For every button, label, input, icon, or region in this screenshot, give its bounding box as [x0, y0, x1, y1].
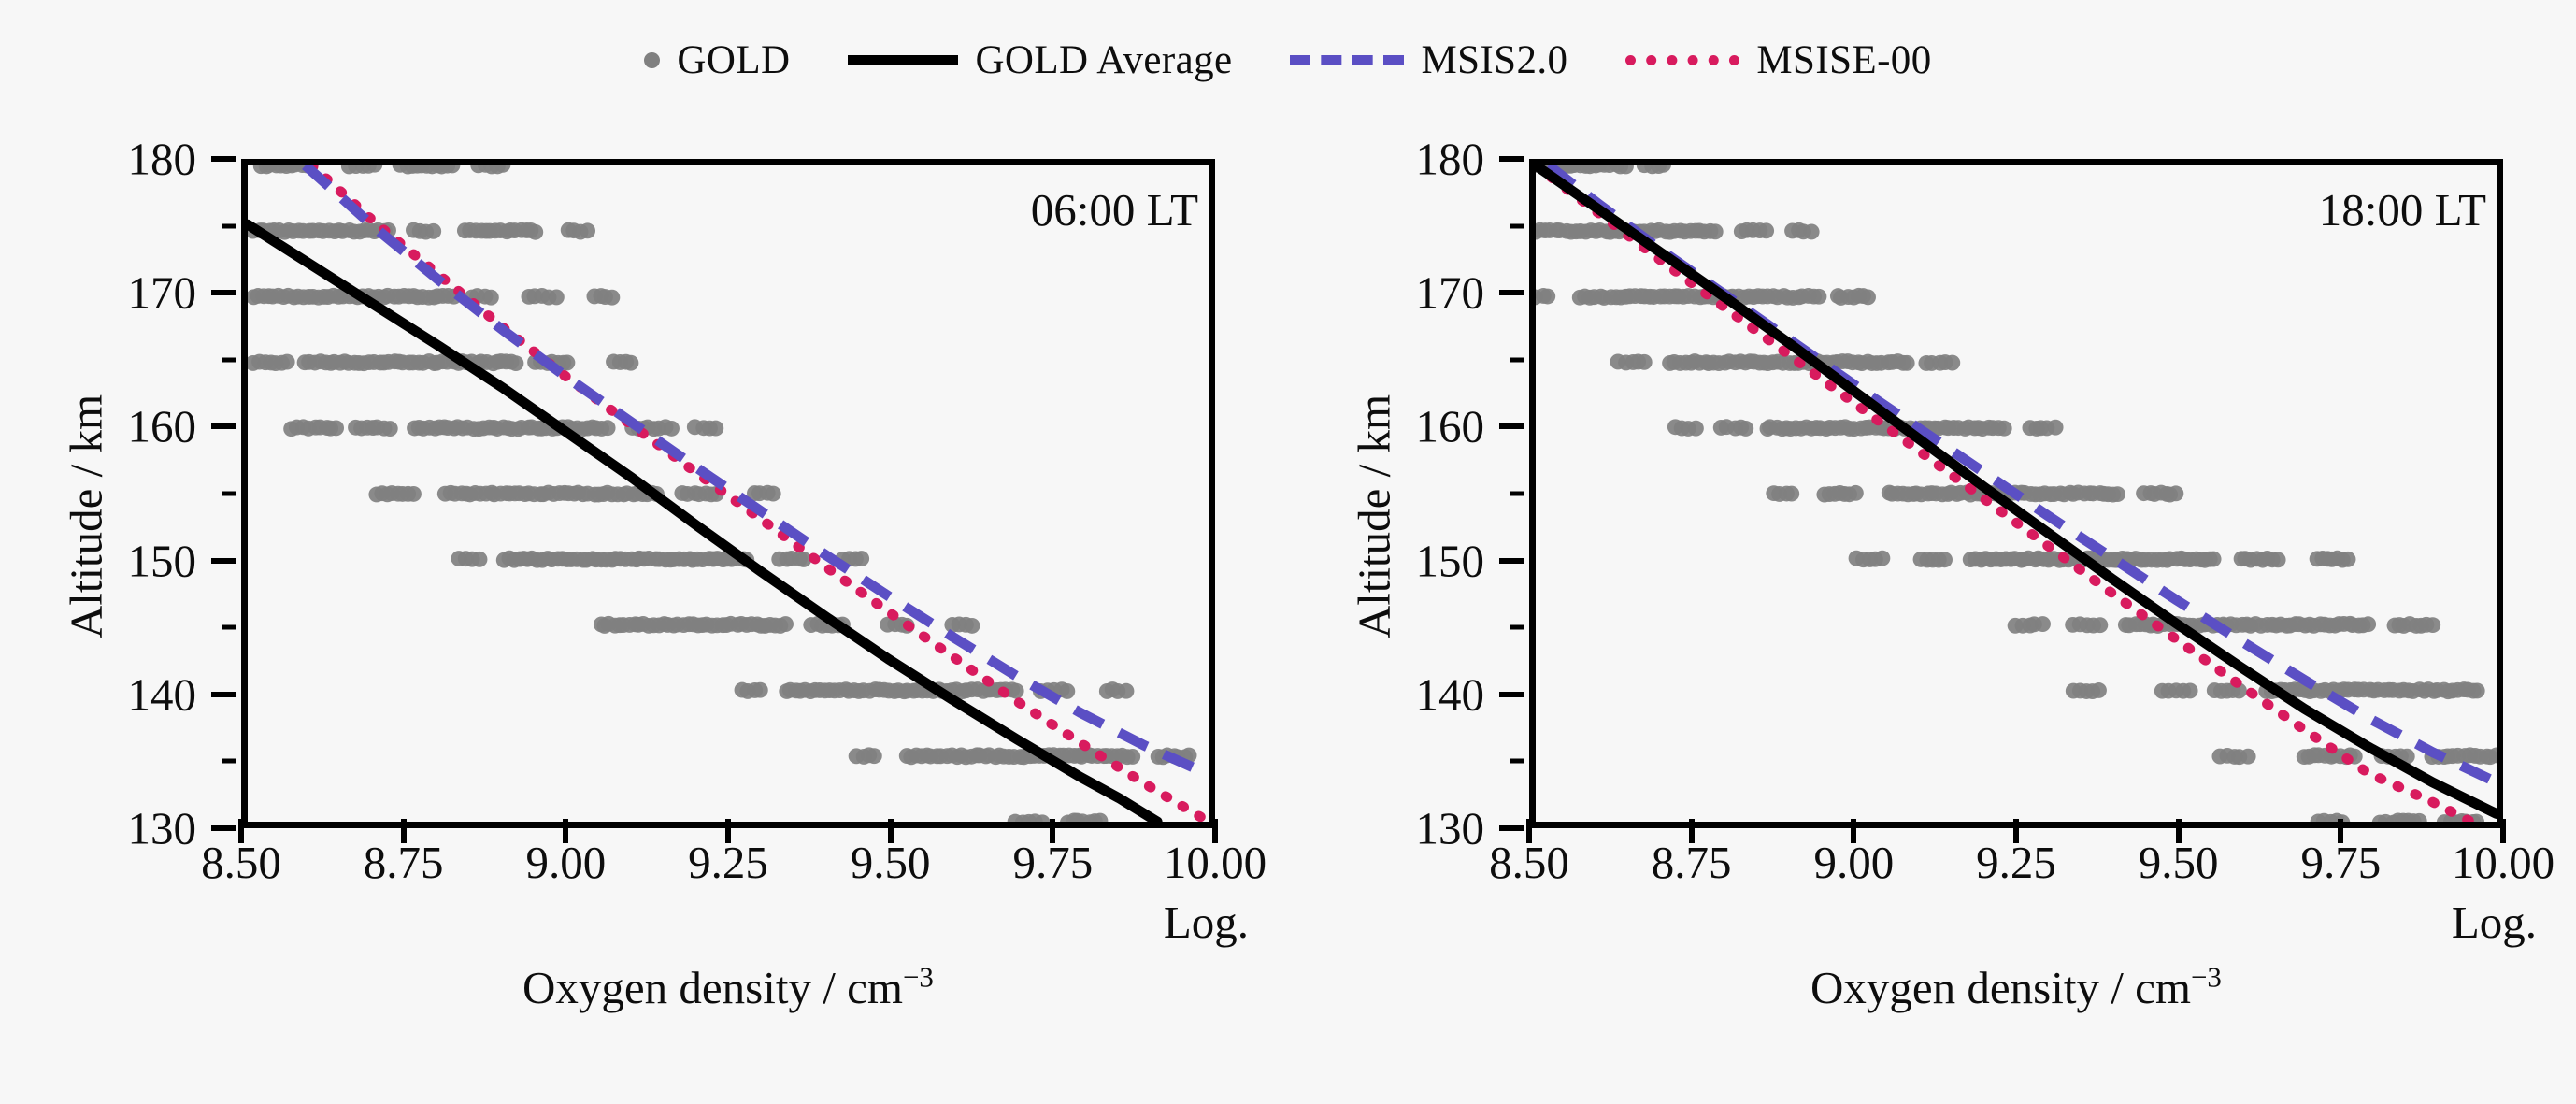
legend-item-msise00: MSISE-00 — [1625, 40, 1931, 80]
x-tick-mark-9.50 — [2176, 819, 2182, 843]
scatter-point — [2206, 552, 2222, 567]
x-tick-mark-10.00 — [1212, 819, 1218, 843]
scatter-point — [2340, 552, 2356, 567]
x-tick-mark-9.75 — [2338, 819, 2343, 843]
scatter-point — [623, 355, 638, 371]
y-tick-mark-150 — [1499, 558, 1524, 564]
y-minor-tick-145 — [1510, 625, 1524, 630]
y-minor-tick-155 — [1510, 492, 1524, 496]
x-tick-mark-9.50 — [888, 819, 894, 843]
scatter-point — [549, 289, 565, 305]
x-tick-mark-8.75 — [1689, 819, 1695, 843]
scatter-point — [766, 486, 781, 502]
legend-item-gold: GOLD — [644, 40, 790, 80]
y-tick-mark-180 — [211, 156, 236, 162]
scatter-point — [2168, 485, 2183, 501]
y-tick-label-180: 180 — [128, 136, 197, 182]
scatter-point — [1996, 421, 2012, 437]
x-axis-title-right: Oxygen density / cm−3 — [1529, 965, 2503, 1011]
y-tick-label-130: 130 — [1416, 806, 1485, 852]
scatter-point — [2048, 420, 2064, 436]
scatter-point — [708, 421, 723, 437]
scatter-point — [1118, 683, 1134, 699]
y-axis-title-left: Altitude / km — [64, 237, 109, 797]
x-tick-label-9.00: 9.00 — [525, 839, 606, 885]
scatter-point — [1810, 289, 1826, 305]
x-axis-ticks-right: 8.508.759.009.259.509.7510.00 — [1529, 834, 2503, 899]
scatter-point — [382, 421, 398, 437]
y-tick-mark-140 — [1499, 692, 1524, 697]
x-tick-label-9.75: 9.75 — [2300, 839, 2381, 885]
x-tick-label-8.75: 8.75 — [1652, 839, 1732, 885]
scatter-point — [1899, 355, 1915, 371]
y-tick-mark-130 — [211, 825, 236, 831]
log-note-left: Log. — [1164, 899, 1249, 945]
scatter-point — [328, 420, 344, 436]
x-tick-mark-8.50 — [238, 819, 244, 843]
y-tick-mark-130 — [1499, 825, 1524, 831]
y-minor-tick-165 — [1510, 357, 1524, 362]
y-minor-tick-135 — [222, 759, 236, 764]
x-tick-mark-9.75 — [1050, 819, 1055, 843]
legend-label-gold-average: GOLD Average — [975, 40, 1232, 80]
x-axis-exponent-left: −3 — [903, 961, 934, 994]
x-tick-mark-9.00 — [1851, 819, 1856, 843]
x-tick-mark-8.50 — [1526, 819, 1532, 843]
y-tick-label-150: 150 — [128, 538, 197, 583]
scatter-point — [1860, 289, 1876, 305]
scatter-point — [527, 224, 543, 240]
scatter-point — [866, 748, 882, 764]
y-tick-label-150: 150 — [1416, 538, 1485, 583]
panel-annotation-right: 18:00 LT — [2319, 187, 2486, 233]
x-tick-label-10.00: 10.00 — [2452, 839, 2555, 885]
y-tick-mark-150 — [211, 558, 236, 564]
y-minor-tick-165 — [222, 357, 236, 362]
y-tick-mark-140 — [211, 692, 236, 697]
x-tick-mark-8.75 — [401, 819, 407, 843]
scatter-point — [1539, 289, 1555, 305]
scatter-point — [2360, 616, 2376, 632]
y-axis-ticks-right: 130140150160170180 — [1288, 159, 1522, 828]
plot-svg-left — [248, 165, 1209, 822]
x-tick-mark-10.00 — [2500, 819, 2506, 843]
y-tick-mark-180 — [1499, 156, 1524, 162]
x-tick-mark-9.00 — [563, 819, 568, 843]
series-line-gold-average — [248, 224, 1157, 822]
purple-dashed-line-icon — [1290, 55, 1404, 65]
x-tick-label-8.50: 8.50 — [201, 839, 281, 885]
scatter-point — [279, 354, 295, 370]
plot-area-right — [1529, 159, 2503, 828]
scatter-point — [1637, 354, 1653, 370]
y-axis-ticks-left: 130140150160170180 — [0, 159, 234, 828]
x-axis-ticks-left: 8.508.759.009.259.509.7510.00 — [241, 834, 1215, 899]
scatter-point — [483, 290, 499, 306]
x-tick-mark-9.25 — [2013, 819, 2019, 843]
scatter-point — [2110, 486, 2125, 502]
y-minor-tick-145 — [222, 625, 236, 630]
legend-item-gold-average: GOLD Average — [848, 40, 1232, 80]
scatter-point — [1804, 224, 1820, 240]
scatter-point — [2240, 749, 2256, 765]
x-tick-label-9.25: 9.25 — [1976, 839, 2056, 885]
scatter-point — [1688, 421, 1704, 437]
panel-container: 130140150160170180 Altitude / km 8.508.7… — [0, 90, 2576, 1104]
plot-svg-right — [1536, 165, 2497, 822]
scatter-point — [2425, 617, 2440, 633]
y-tick-label-140: 140 — [128, 671, 197, 717]
panel-annotation-left: 06:00 LT — [1031, 187, 1198, 233]
x-tick-label-10.00: 10.00 — [1164, 839, 1267, 885]
scatter-point — [2270, 552, 2286, 567]
x-tick-mark-9.25 — [725, 819, 731, 843]
y-tick-label-170: 170 — [128, 270, 197, 316]
y-minor-tick-175 — [222, 223, 236, 228]
x-tick-label-9.75: 9.75 — [1012, 839, 1093, 885]
legend-label-msis20: MSIS2.0 — [1421, 40, 1567, 80]
x-axis-title-text-left: Oxygen density / cm — [522, 962, 903, 1013]
scatter-point — [406, 486, 422, 502]
scatter-point — [2469, 683, 2485, 699]
scatter-point — [2092, 617, 2108, 633]
gray-dot-marker-icon — [644, 52, 660, 68]
log-note-right: Log. — [2452, 899, 2537, 945]
scatter-point — [1738, 421, 1753, 437]
y-tick-label-140: 140 — [1416, 671, 1485, 717]
x-tick-label-9.50: 9.50 — [851, 839, 931, 885]
x-tick-label-9.25: 9.25 — [688, 839, 768, 885]
x-tick-label-9.00: 9.00 — [1813, 839, 1894, 885]
scatter-point — [1009, 683, 1024, 699]
scatter-point — [604, 290, 620, 306]
scatter-point — [1708, 223, 1724, 239]
x-axis-title-left: Oxygen density / cm−3 — [241, 965, 1215, 1011]
x-axis-exponent-right: −3 — [2191, 961, 2222, 994]
legend-label-msise00: MSISE-00 — [1756, 40, 1931, 80]
panel-18-lt: 130140150160170180 Altitude / km 8.508.7… — [1288, 90, 2576, 1104]
y-tick-mark-160 — [211, 423, 236, 429]
scatter-point — [964, 618, 980, 634]
plot-area-left — [241, 159, 1215, 828]
panel-06-lt: 130140150160170180 Altitude / km 8.508.7… — [0, 90, 1288, 1104]
y-minor-tick-135 — [1510, 759, 1524, 764]
y-minor-tick-155 — [222, 492, 236, 496]
x-tick-label-8.75: 8.75 — [364, 839, 444, 885]
x-tick-label-9.50: 9.50 — [2139, 839, 2219, 885]
scatter-point — [580, 222, 595, 238]
scatter-point — [752, 682, 768, 698]
scatter-point — [425, 223, 441, 239]
y-axis-title-right: Altitude / km — [1352, 237, 1397, 797]
y-tick-label-130: 130 — [128, 806, 197, 852]
x-axis-title-text-right: Oxygen density / cm — [1810, 962, 2191, 1013]
y-tick-mark-170 — [1499, 290, 1524, 295]
scatter-point — [1937, 552, 1953, 567]
scatter-point — [471, 552, 487, 567]
y-tick-label-170: 170 — [1416, 270, 1485, 316]
scatter-point — [1783, 486, 1799, 502]
legend-item-msis20: MSIS2.0 — [1290, 40, 1567, 80]
scatter-point — [1944, 355, 1960, 371]
black-solid-line-icon — [848, 55, 958, 65]
chart-legend: GOLD GOLD Average MSIS2.0 MSISE-00 — [0, 32, 2576, 88]
scatter-point — [853, 551, 869, 566]
scatter-point — [2091, 682, 2107, 698]
scatter-point — [1848, 485, 1864, 501]
scatter-point — [1874, 551, 1890, 566]
x-tick-label-8.50: 8.50 — [1489, 839, 1569, 885]
y-tick-label-160: 160 — [128, 404, 197, 450]
y-tick-mark-170 — [211, 290, 236, 295]
scatter-point — [778, 616, 794, 632]
scatter-point — [2182, 682, 2198, 698]
y-tick-mark-160 — [1499, 423, 1524, 429]
figure-root: GOLD GOLD Average MSIS2.0 MSISE-00 13014… — [0, 0, 2576, 1104]
y-tick-label-160: 160 — [1416, 404, 1485, 450]
scatter-point — [508, 355, 523, 371]
y-minor-tick-175 — [1510, 223, 1524, 228]
scatter-point — [1758, 222, 1774, 238]
legend-label-gold: GOLD — [677, 40, 790, 80]
scatter-point — [1059, 683, 1075, 699]
scatter-point — [664, 421, 680, 437]
scatter-point — [2035, 616, 2051, 632]
scatter-point — [1124, 749, 1140, 765]
scatter-point — [600, 420, 616, 436]
crimson-dotted-line-icon — [1625, 55, 1739, 65]
y-tick-label-180: 180 — [1416, 136, 1485, 182]
